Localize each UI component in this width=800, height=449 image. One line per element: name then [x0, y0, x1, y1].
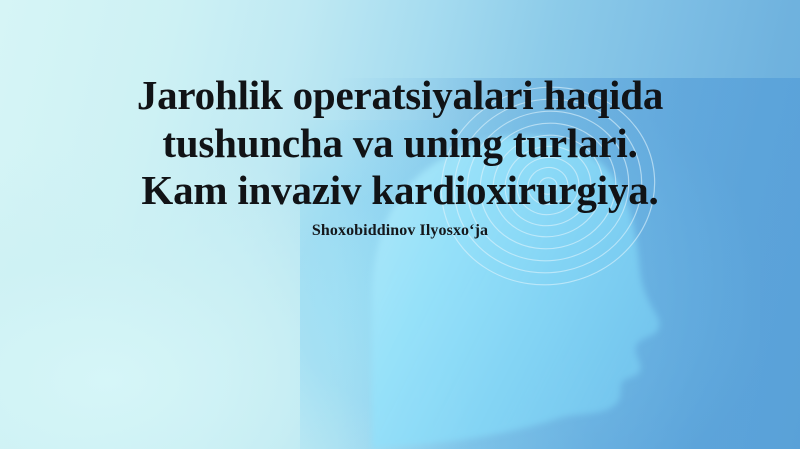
slide-title-line-2: tushuncha va uning turlari. — [46, 120, 754, 168]
slide-title: Jarohlik operatsiyalari haqida tushuncha… — [0, 72, 800, 215]
slide-author: Shoxobiddinov Ilyosxoʻja — [0, 221, 800, 240]
slide-title-line-1: Jarohlik operatsiyalari haqida — [46, 72, 754, 120]
presentation-slide: Jarohlik operatsiyalari haqida tushuncha… — [0, 0, 800, 449]
slide-title-line-3: Kam invaziv kardioxirurgiya. — [46, 167, 754, 215]
slide-text-block: Jarohlik operatsiyalari haqida tushuncha… — [0, 72, 800, 240]
